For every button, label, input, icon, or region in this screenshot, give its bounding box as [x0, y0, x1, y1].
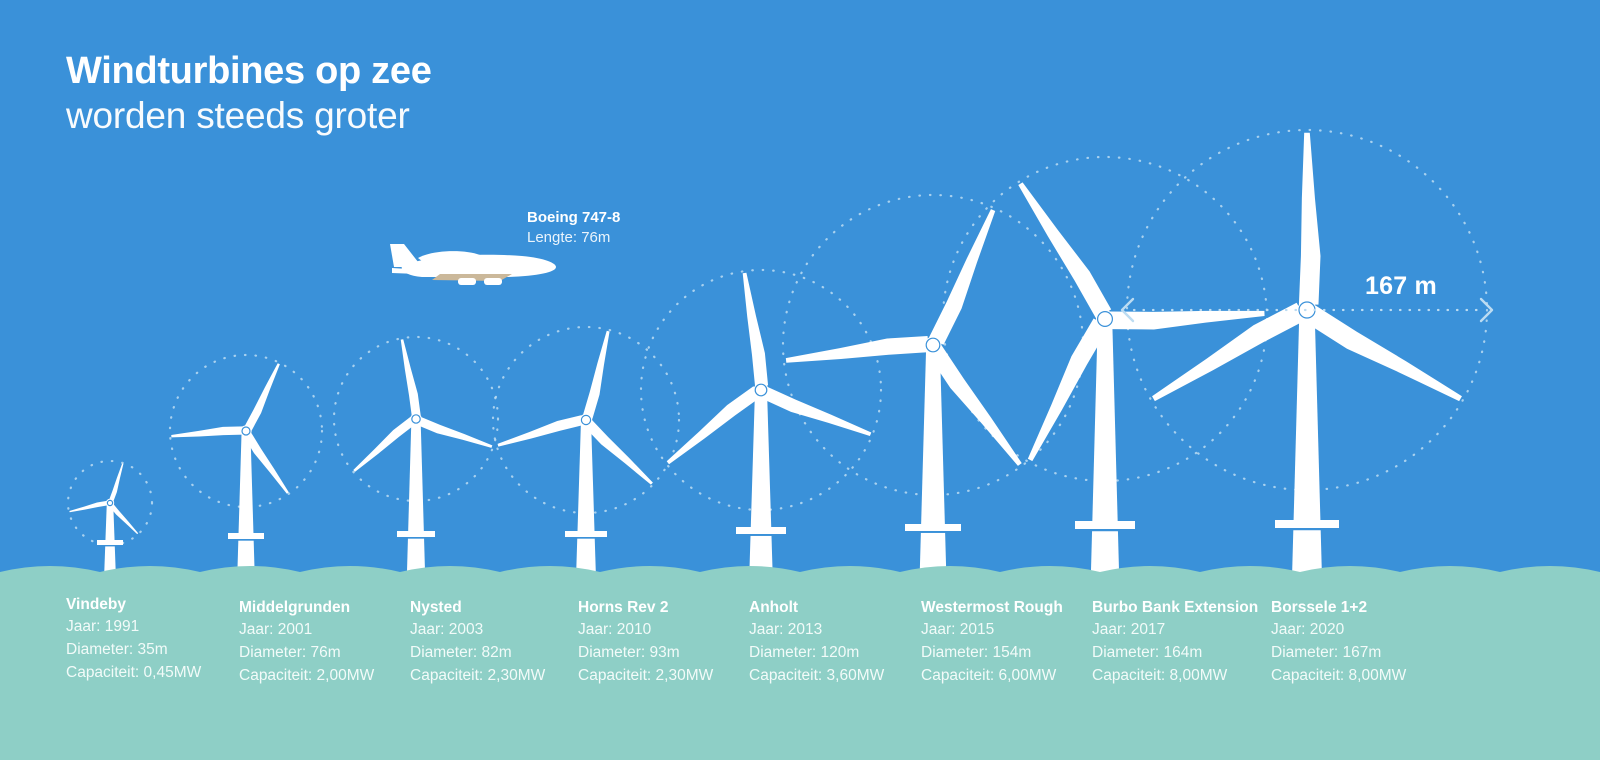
turbine-name: Anholt: [749, 596, 884, 619]
platform-gap: [1275, 528, 1339, 530]
turbine-capacity: Capaciteit: 2,30MW: [578, 665, 713, 688]
turbine-caption-0: VindebyJaar: 1991Diameter: 35mCapaciteit…: [66, 593, 201, 685]
engine-1: [484, 278, 502, 285]
turbine-capacity: Capaciteit: 6,00MW: [921, 665, 1063, 688]
turbine-diameter: Diameter: 93m: [578, 642, 713, 665]
turbine-diameter: Diameter: 76m: [239, 642, 374, 665]
turbine-caption-6: Burbo Bank ExtensionJaar: 2017Diameter: …: [1092, 596, 1258, 688]
span-measure-label: 167 m: [1365, 272, 1437, 301]
tower-platform: [1075, 521, 1135, 529]
turbine-diameter: Diameter: 167m: [1271, 642, 1406, 665]
tower-platform: [905, 524, 961, 531]
turbine-capacity: Capaciteit: 2,30MW: [410, 665, 545, 688]
turbine-name: Burbo Bank Extension: [1092, 596, 1258, 619]
tower-platform: [228, 533, 264, 539]
turbine-capacity: Capaciteit: 2,00MW: [239, 665, 374, 688]
turbine-year: Jaar: 2020: [1271, 619, 1406, 642]
turbine-caption-1: MiddelgrundenJaar: 2001Diameter: 76mCapa…: [239, 596, 374, 688]
turbine-name: Borssele 1+2: [1271, 596, 1406, 619]
turbine-year: Jaar: 1991: [66, 616, 201, 639]
platform-gap: [1075, 529, 1135, 531]
turbine-name: Westermost Rough: [921, 596, 1063, 619]
turbine-capacity: Capaciteit: 3,60MW: [749, 665, 884, 688]
infographic-canvas: Windturbines op zee worden steeds groter…: [0, 0, 1600, 760]
turbine-year: Jaar: 2013: [749, 619, 884, 642]
platform-gap: [228, 539, 264, 541]
platform-gap: [565, 537, 607, 539]
platform-gap: [97, 545, 123, 546]
turbine-name: Nysted: [410, 596, 545, 619]
rotor-hub: [754, 383, 769, 398]
turbine-year: Jaar: 2003: [410, 619, 545, 642]
turbine-year: Jaar: 2001: [239, 619, 374, 642]
tower-platform: [97, 540, 123, 545]
rotor-hub: [925, 337, 942, 354]
turbine-year: Jaar: 2017: [1092, 619, 1258, 642]
turbine-caption-7: Borssele 1+2Jaar: 2020Diameter: 167mCapa…: [1271, 596, 1406, 688]
turbine-caption-3: Horns Rev 2Jaar: 2010Diameter: 93mCapaci…: [578, 596, 713, 688]
turbine-caption-5: Westermost RoughJaar: 2015Diameter: 154m…: [921, 596, 1063, 688]
turbine-year: Jaar: 2015: [921, 619, 1063, 642]
tower-platform: [1275, 520, 1339, 528]
plane-annotation: Boeing 747-8 Lengte: 76m: [527, 208, 620, 249]
turbine-capacity: Capaciteit: 8,00MW: [1092, 665, 1258, 688]
rotor-hub: [1096, 310, 1114, 328]
platform-gap: [736, 534, 786, 536]
turbine-captions: VindebyJaar: 1991Diameter: 35mCapaciteit…: [0, 588, 1600, 760]
turbine-name: Horns Rev 2: [578, 596, 713, 619]
platform-gap: [905, 531, 961, 533]
platform-gap: [397, 537, 435, 539]
turbine-diameter: Diameter: 82m: [410, 642, 545, 665]
turbine-capacity: Capaciteit: 8,00MW: [1271, 665, 1406, 688]
turbine-year: Jaar: 2010: [578, 619, 713, 642]
plane-name: Boeing 747-8: [527, 208, 620, 228]
tower-platform: [736, 527, 786, 534]
turbine-diameter: Diameter: 35m: [66, 639, 201, 662]
turbine-capacity: Capaciteit: 0,45MW: [66, 662, 201, 685]
engine-0: [458, 278, 476, 285]
tower-platform: [397, 531, 435, 537]
plane-length: Lengte: 76m: [527, 228, 620, 248]
turbine-diameter: Diameter: 154m: [921, 642, 1063, 665]
turbine-name: Middelgrunden: [239, 596, 374, 619]
turbine-caption-4: AnholtJaar: 2013Diameter: 120mCapaciteit…: [749, 596, 884, 688]
turbine-caption-2: NystedJaar: 2003Diameter: 82mCapaciteit:…: [410, 596, 545, 688]
tower-platform: [565, 531, 607, 537]
turbine-diameter: Diameter: 164m: [1092, 642, 1258, 665]
turbine-name: Vindeby: [66, 593, 201, 616]
turbine-diameter: Diameter: 120m: [749, 642, 884, 665]
